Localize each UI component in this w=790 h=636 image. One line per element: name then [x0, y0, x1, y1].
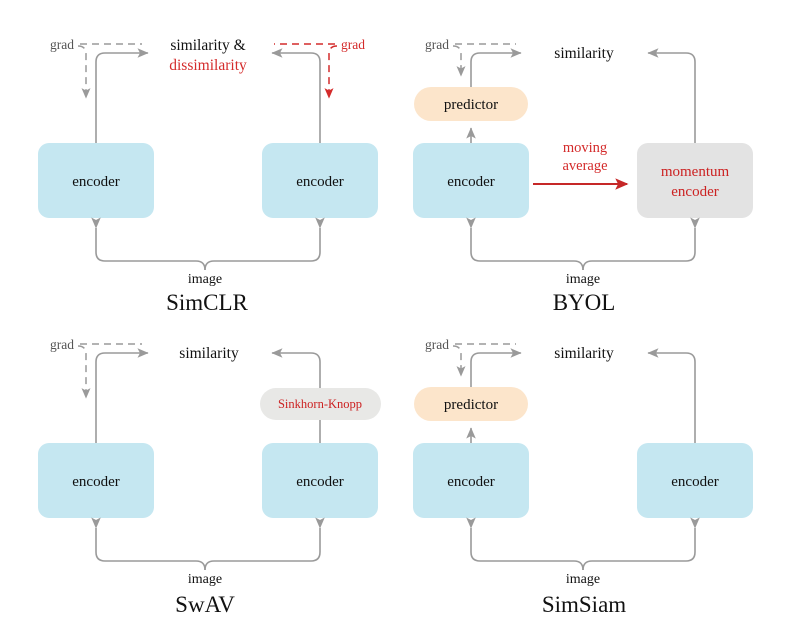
swav-title: SwAV — [175, 592, 235, 617]
simsiam-image-brace-right — [583, 528, 695, 570]
byol-title: BYOL — [553, 290, 616, 315]
simsiam-right-encoder-label: encoder — [671, 474, 718, 490]
byol-predictor-forward-arrow — [471, 53, 521, 87]
simsiam-title: SimSiam — [542, 592, 626, 617]
simsiam-objective-label: similarity — [554, 345, 614, 362]
swav-input-label: image — [188, 572, 222, 587]
swav-image-brace-right — [205, 528, 320, 570]
swav-sinkhorn-knopp-label: Sinkhorn-Knopp — [278, 397, 362, 411]
simclr-left-encoder-label: encoder — [72, 174, 119, 190]
figure-canvas: encoder encoder grad grad similarity & d… — [0, 0, 790, 636]
simsiam-grad-arrow — [453, 346, 461, 376]
swav-grad-label: grad — [50, 337, 74, 352]
byol-moving-average-line2: average — [562, 158, 607, 174]
simclr-left-grad-label: grad — [50, 37, 74, 52]
swav-right-encoder-label: encoder — [296, 474, 343, 490]
simclr-right-forward-arrow — [272, 53, 320, 143]
panel-simsiam: encoder predictor encoder grad similarit… — [413, 337, 753, 617]
swav-objective-label: similarity — [179, 345, 239, 362]
simclr-left-grad-arrow — [78, 46, 86, 98]
simsiam-input-label: image — [566, 572, 600, 587]
byol-image-brace-left — [471, 228, 583, 270]
simclr-image-brace-left — [96, 228, 205, 270]
simclr-objective-line1: similarity & — [170, 37, 245, 54]
byol-momentum-encoder-line1: momentum — [661, 164, 730, 180]
simsiam-predictor-label: predictor — [444, 397, 498, 413]
byol-momentum-encoder-line2: encoder — [671, 184, 718, 200]
byol-input-label: image — [566, 272, 600, 287]
panel-swav: encoder encoder Sinkhorn-Knopp grad simi… — [38, 337, 381, 617]
swav-sinkhorn-forward-arrow — [272, 353, 320, 388]
simsiam-right-forward-arrow — [648, 353, 695, 443]
swav-left-encoder-label: encoder — [72, 474, 119, 490]
simclr-left-forward-arrow — [96, 53, 148, 143]
simclr-title: SimCLR — [166, 290, 248, 315]
simsiam-image-brace-left — [471, 528, 583, 570]
simsiam-predictor-forward-arrow — [471, 353, 521, 387]
byol-predictor-label: predictor — [444, 97, 498, 113]
swav-left-forward-arrow — [96, 353, 148, 443]
byol-moving-average-line1: moving — [563, 140, 607, 156]
simclr-image-brace-right — [205, 228, 320, 270]
swav-image-brace-left — [96, 528, 205, 570]
simsiam-left-encoder-label: encoder — [447, 474, 494, 490]
simclr-input-label: image — [188, 272, 222, 287]
simclr-right-encoder-label: encoder — [296, 174, 343, 190]
simclr-right-grad-arrow — [329, 46, 337, 98]
panel-simclr: encoder encoder grad grad similarity & d… — [38, 37, 378, 315]
byol-grad-arrow — [453, 46, 461, 76]
byol-image-brace-right — [583, 228, 695, 270]
panel-byol: encoder predictor momentum encoder grad … — [413, 37, 753, 315]
byol-objective-label: similarity — [554, 45, 614, 62]
byol-momentum-forward-arrow — [648, 53, 695, 143]
simsiam-grad-label: grad — [425, 337, 449, 352]
swav-grad-arrow — [78, 346, 86, 398]
simclr-right-grad-label: grad — [341, 37, 365, 52]
byol-momentum-encoder-box — [637, 143, 753, 218]
byol-left-encoder-label: encoder — [447, 174, 494, 190]
byol-grad-label: grad — [425, 37, 449, 52]
simclr-objective-line2: dissimilarity — [169, 57, 247, 74]
